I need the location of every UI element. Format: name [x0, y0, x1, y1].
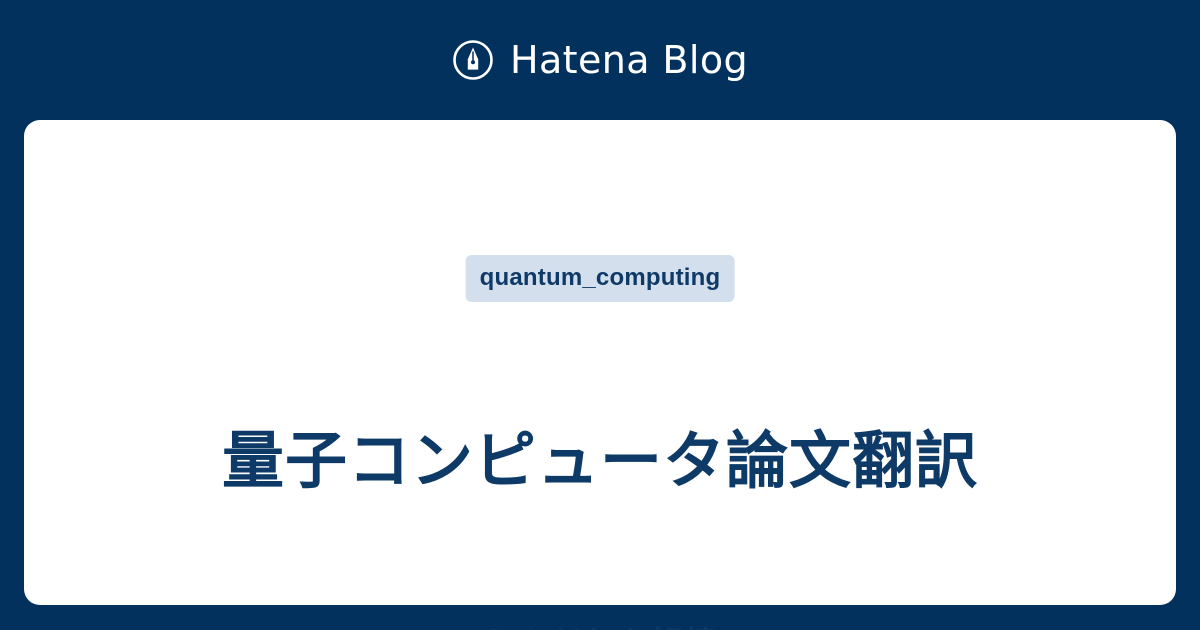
site-header: Hatena Blog: [0, 0, 1200, 120]
brand-name-label: Hatena Blog: [510, 41, 748, 79]
entry-title: 量子コンピュータ論文翻訳: [24, 427, 1176, 496]
fountain-pen-nib-in-circle-icon: [452, 39, 494, 81]
category-tag-badge[interactable]: quantum_computing: [466, 255, 735, 302]
blog-name-label[interactable]: らんだむな記憶: [24, 626, 1176, 630]
entry-card: quantum_computing 量子コンピュータ論文翻訳 らんだむな記憶: [24, 120, 1176, 605]
hatena-blog-logo[interactable]: [452, 39, 494, 81]
